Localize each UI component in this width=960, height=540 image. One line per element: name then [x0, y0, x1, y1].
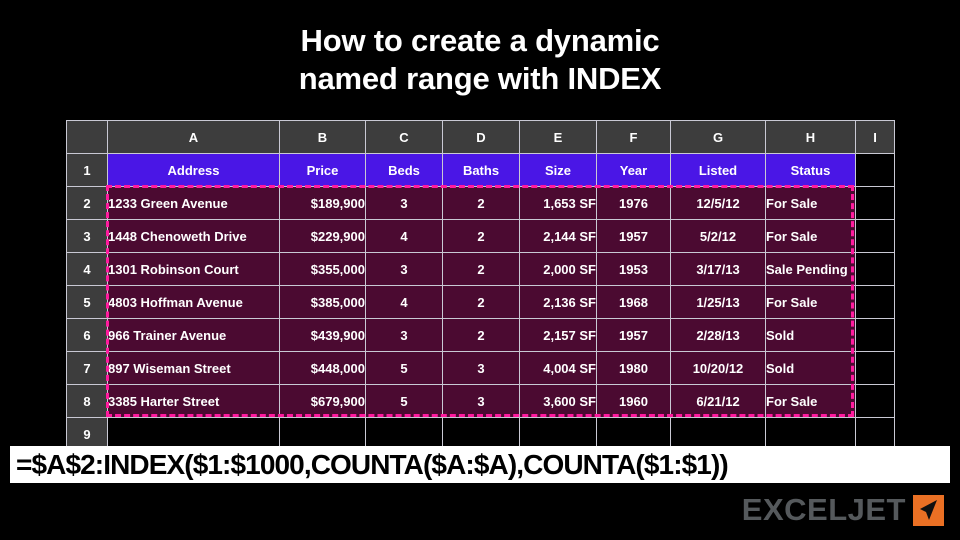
- spreadsheet-grid: A B C D E F G H I 1 Address Price Beds B…: [66, 120, 895, 451]
- cell-d5[interactable]: 2: [443, 286, 520, 319]
- cell-h2[interactable]: For Sale: [766, 187, 856, 220]
- cell-f8[interactable]: 1960: [597, 385, 671, 418]
- cell-b7[interactable]: $448,000: [280, 352, 366, 385]
- table-row: 3 1448 Chenoweth Drive $229,900 4 2 2,14…: [67, 220, 895, 253]
- cell-f6[interactable]: 1957: [597, 319, 671, 352]
- cell-d4[interactable]: 2: [443, 253, 520, 286]
- cell-d2[interactable]: 2: [443, 187, 520, 220]
- cell-a1[interactable]: Address: [108, 154, 280, 187]
- table-row: 5 4803 Hoffman Avenue $385,000 4 2 2,136…: [67, 286, 895, 319]
- cell-b2[interactable]: $189,900: [280, 187, 366, 220]
- cell-h3[interactable]: For Sale: [766, 220, 856, 253]
- cell-a6[interactable]: 966 Trainer Avenue: [108, 319, 280, 352]
- cell-c8[interactable]: 5: [366, 385, 443, 418]
- formula-text: =$A$2:INDEX($1:$1000,COUNTA($A:$A),COUNT…: [16, 449, 728, 481]
- cell-h6[interactable]: Sold: [766, 319, 856, 352]
- title-line-2: named range with INDEX: [0, 60, 960, 98]
- cell-b5[interactable]: $385,000: [280, 286, 366, 319]
- cell-c6[interactable]: 3: [366, 319, 443, 352]
- cell-i5[interactable]: [856, 286, 895, 319]
- select-all-corner[interactable]: [67, 121, 108, 154]
- cell-e3[interactable]: 2,144 SF: [520, 220, 597, 253]
- column-header-h[interactable]: H: [766, 121, 856, 154]
- cell-g5[interactable]: 1/25/13: [671, 286, 766, 319]
- cell-f5[interactable]: 1968: [597, 286, 671, 319]
- cell-b3[interactable]: $229,900: [280, 220, 366, 253]
- cell-i7[interactable]: [856, 352, 895, 385]
- cell-g8[interactable]: 6/21/12: [671, 385, 766, 418]
- slide-canvas: How to create a dynamic named range with…: [0, 0, 960, 540]
- cell-a4[interactable]: 1301 Robinson Court: [108, 253, 280, 286]
- table-row: 4 1301 Robinson Court $355,000 3 2 2,000…: [67, 253, 895, 286]
- cell-d7[interactable]: 3: [443, 352, 520, 385]
- cell-f4[interactable]: 1953: [597, 253, 671, 286]
- cell-i8[interactable]: [856, 385, 895, 418]
- cell-h8[interactable]: For Sale: [766, 385, 856, 418]
- row-header-1[interactable]: 1: [67, 154, 108, 187]
- column-header-e[interactable]: E: [520, 121, 597, 154]
- cell-h5[interactable]: For Sale: [766, 286, 856, 319]
- cell-f2[interactable]: 1976: [597, 187, 671, 220]
- column-header-c[interactable]: C: [366, 121, 443, 154]
- table-row: 6 966 Trainer Avenue $439,900 3 2 2,157 …: [67, 319, 895, 352]
- cell-b8[interactable]: $679,900: [280, 385, 366, 418]
- table-row: 1 Address Price Beds Baths Size Year Lis…: [67, 154, 895, 187]
- cell-b6[interactable]: $439,900: [280, 319, 366, 352]
- cell-a2[interactable]: 1233 Green Avenue: [108, 187, 280, 220]
- cell-d1[interactable]: Baths: [443, 154, 520, 187]
- page-title: How to create a dynamic named range with…: [0, 22, 960, 98]
- cell-d6[interactable]: 2: [443, 319, 520, 352]
- formula-bar[interactable]: =$A$2:INDEX($1:$1000,COUNTA($A:$A),COUNT…: [10, 446, 950, 483]
- cell-i6[interactable]: [856, 319, 895, 352]
- cell-a3[interactable]: 1448 Chenoweth Drive: [108, 220, 280, 253]
- cell-h4[interactable]: Sale Pending: [766, 253, 856, 286]
- cell-d8[interactable]: 3: [443, 385, 520, 418]
- cell-g6[interactable]: 2/28/13: [671, 319, 766, 352]
- logo-wordmark: EXCELJET: [742, 492, 906, 528]
- cell-g2[interactable]: 12/5/12: [671, 187, 766, 220]
- column-header-d[interactable]: D: [443, 121, 520, 154]
- cell-e8[interactable]: 3,600 SF: [520, 385, 597, 418]
- row-header-2[interactable]: 2: [67, 187, 108, 220]
- row-header-7[interactable]: 7: [67, 352, 108, 385]
- table-row: 7 897 Wiseman Street $448,000 5 3 4,004 …: [67, 352, 895, 385]
- cell-f1[interactable]: Year: [597, 154, 671, 187]
- title-line-1: How to create a dynamic: [0, 22, 960, 60]
- cell-a8[interactable]: 3385 Harter Street: [108, 385, 280, 418]
- cell-b4[interactable]: $355,000: [280, 253, 366, 286]
- column-header-f[interactable]: F: [597, 121, 671, 154]
- cell-c1[interactable]: Beds: [366, 154, 443, 187]
- cell-f7[interactable]: 1980: [597, 352, 671, 385]
- cell-e1[interactable]: Size: [520, 154, 597, 187]
- cell-f3[interactable]: 1957: [597, 220, 671, 253]
- cell-c3[interactable]: 4: [366, 220, 443, 253]
- cell-i3[interactable]: [856, 220, 895, 253]
- cell-h1[interactable]: Status: [766, 154, 856, 187]
- row-header-5[interactable]: 5: [67, 286, 108, 319]
- cell-i2[interactable]: [856, 187, 895, 220]
- cell-e7[interactable]: 4,004 SF: [520, 352, 597, 385]
- column-header-row: A B C D E F G H I: [67, 121, 895, 154]
- cell-h7[interactable]: Sold: [766, 352, 856, 385]
- cell-e2[interactable]: 1,653 SF: [520, 187, 597, 220]
- cell-d3[interactable]: 2: [443, 220, 520, 253]
- cell-b1[interactable]: Price: [280, 154, 366, 187]
- column-header-i[interactable]: I: [856, 121, 895, 154]
- column-header-b[interactable]: B: [280, 121, 366, 154]
- cell-g7[interactable]: 10/20/12: [671, 352, 766, 385]
- cell-g3[interactable]: 5/2/12: [671, 220, 766, 253]
- cell-e4[interactable]: 2,000 SF: [520, 253, 597, 286]
- column-header-g[interactable]: G: [671, 121, 766, 154]
- row-header-6[interactable]: 6: [67, 319, 108, 352]
- exceljet-logo: EXCELJET: [742, 492, 944, 528]
- column-header-a[interactable]: A: [108, 121, 280, 154]
- cell-e5[interactable]: 2,136 SF: [520, 286, 597, 319]
- row-header-8[interactable]: 8: [67, 385, 108, 418]
- cell-a5[interactable]: 4803 Hoffman Avenue: [108, 286, 280, 319]
- cell-e6[interactable]: 2,157 SF: [520, 319, 597, 352]
- row-header-3[interactable]: 3: [67, 220, 108, 253]
- table-row: 2 1233 Green Avenue $189,900 3 2 1,653 S…: [67, 187, 895, 220]
- cell-i4[interactable]: [856, 253, 895, 286]
- cell-i1[interactable]: [856, 154, 895, 187]
- cell-g4[interactable]: 3/17/13: [671, 253, 766, 286]
- cell-c4[interactable]: 3: [366, 253, 443, 286]
- cell-g1[interactable]: Listed: [671, 154, 766, 187]
- exceljet-arrow-icon: [913, 495, 944, 526]
- cell-c7[interactable]: 5: [366, 352, 443, 385]
- table-row: 8 3385 Harter Street $679,900 5 3 3,600 …: [67, 385, 895, 418]
- cell-a7[interactable]: 897 Wiseman Street: [108, 352, 280, 385]
- cell-c2[interactable]: 3: [366, 187, 443, 220]
- cell-c5[interactable]: 4: [366, 286, 443, 319]
- row-header-4[interactable]: 4: [67, 253, 108, 286]
